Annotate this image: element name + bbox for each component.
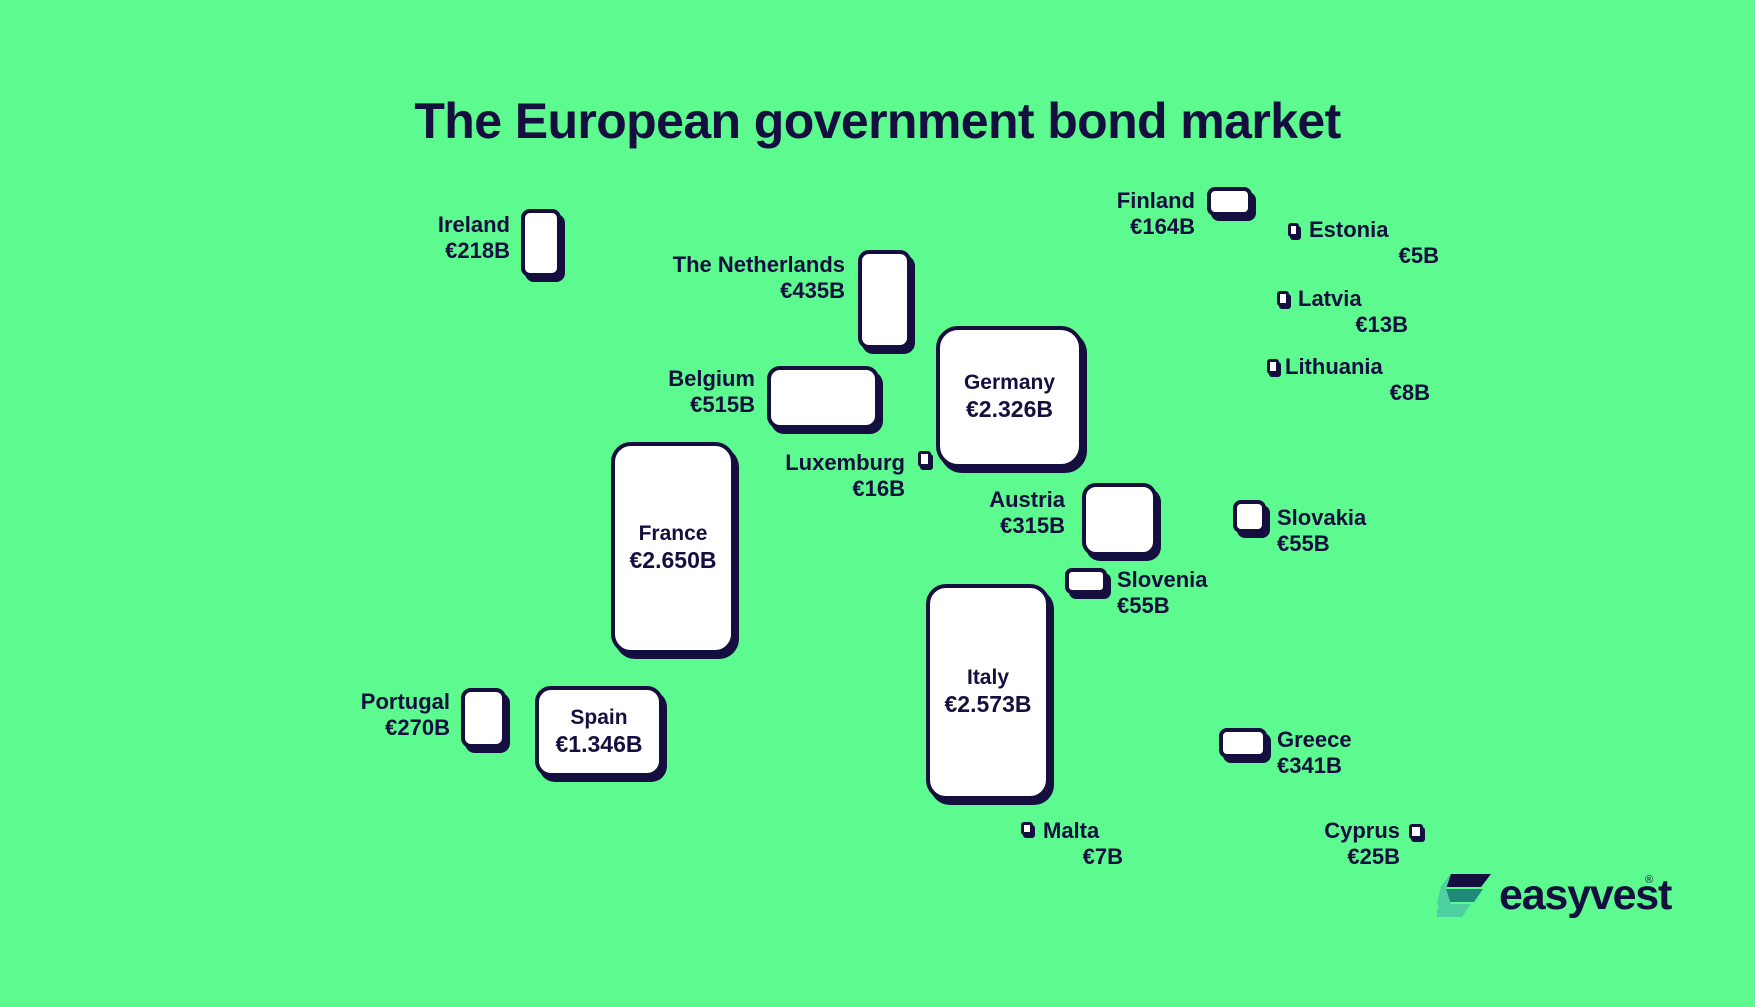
country-value-austria: €315B: [900, 513, 1065, 539]
label-netherlands: The Netherlands €435B: [600, 252, 845, 303]
country-value-italy: €2.573B: [945, 690, 1032, 719]
country-value-estonia: €5B: [1309, 243, 1439, 269]
easyvest-logo[interactable]: easyvest ®: [1437, 872, 1667, 924]
country-name-estonia: Estonia: [1309, 217, 1509, 243]
country-name-latvia: Latvia: [1298, 286, 1498, 312]
country-name-slovakia: Slovakia: [1277, 505, 1477, 531]
box-lithuania[interactable]: [1267, 359, 1279, 374]
label-portugal: Portugal €270B: [285, 689, 450, 740]
label-slovakia: Slovakia €55B: [1277, 505, 1477, 556]
country-name-portugal: Portugal: [285, 689, 450, 715]
country-value-slovakia: €55B: [1277, 531, 1477, 557]
country-value-ireland: €218B: [330, 238, 510, 264]
country-name-spain: Spain: [570, 705, 627, 730]
box-belgium[interactable]: [767, 366, 879, 429]
label-austria: Austria €315B: [900, 487, 1065, 538]
country-value-spain: €1.346B: [556, 730, 643, 759]
box-estonia[interactable]: [1288, 223, 1299, 237]
label-ireland: Ireland €218B: [330, 212, 510, 263]
registered-trademark-icon: ®: [1645, 874, 1653, 886]
country-value-latvia: €13B: [1298, 312, 1408, 338]
country-value-cyprus: €25B: [1245, 844, 1400, 870]
label-malta: Malta €7B: [1043, 818, 1243, 869]
label-estonia: Estonia €5B: [1309, 217, 1509, 268]
country-name-germany: Germany: [964, 370, 1055, 395]
country-value-malta: €7B: [1043, 844, 1123, 870]
country-name-cyprus: Cyprus: [1245, 818, 1400, 844]
country-name-lithuania: Lithuania: [1285, 354, 1485, 380]
country-value-greece: €341B: [1277, 753, 1477, 779]
box-france[interactable]: France €2.650B: [611, 442, 735, 654]
label-slovenia: Slovenia €55B: [1117, 567, 1317, 618]
box-slovenia[interactable]: [1065, 568, 1107, 594]
label-finland: Finland €164B: [1025, 188, 1195, 239]
box-malta[interactable]: [1021, 822, 1033, 835]
label-cyprus: Cyprus €25B: [1245, 818, 1400, 869]
box-slovakia[interactable]: [1233, 500, 1266, 533]
country-name-italy: Italy: [967, 665, 1009, 690]
box-netherlands[interactable]: [858, 250, 911, 349]
box-italy[interactable]: Italy €2.573B: [926, 584, 1050, 800]
box-austria[interactable]: [1082, 483, 1157, 556]
country-name-greece: Greece: [1277, 727, 1477, 753]
label-belgium: Belgium €515B: [590, 366, 755, 417]
country-name-malta: Malta: [1043, 818, 1243, 844]
country-value-lithuania: €8B: [1285, 380, 1430, 406]
box-greece[interactable]: [1219, 728, 1267, 758]
country-name-france: France: [639, 521, 708, 546]
box-ireland[interactable]: [521, 209, 561, 277]
box-finland[interactable]: [1207, 187, 1252, 216]
country-name-austria: Austria: [900, 487, 1065, 513]
label-latvia: Latvia €13B: [1298, 286, 1498, 337]
country-value-france: €2.650B: [630, 546, 717, 575]
country-name-belgium: Belgium: [590, 366, 755, 392]
country-name-ireland: Ireland: [330, 212, 510, 238]
box-germany[interactable]: Germany €2.326B: [936, 326, 1083, 468]
easyvest-logo-mark: [1437, 874, 1491, 918]
country-name-slovenia: Slovenia: [1117, 567, 1317, 593]
box-spain[interactable]: Spain €1.346B: [535, 686, 663, 777]
box-portugal[interactable]: [461, 688, 506, 748]
country-value-finland: €164B: [1025, 214, 1195, 240]
box-luxemburg[interactable]: [918, 451, 931, 467]
infographic-canvas: The European government bond market Irel…: [0, 0, 1755, 1007]
country-value-netherlands: €435B: [600, 278, 845, 304]
country-value-slovenia: €55B: [1117, 593, 1317, 619]
label-lithuania: Lithuania €8B: [1285, 354, 1485, 405]
country-name-netherlands: The Netherlands: [600, 252, 845, 278]
label-greece: Greece €341B: [1277, 727, 1477, 778]
page-title: The European government bond market: [0, 92, 1755, 150]
country-value-belgium: €515B: [590, 392, 755, 418]
box-cyprus[interactable]: [1409, 824, 1423, 839]
country-value-portugal: €270B: [285, 715, 450, 741]
country-name-finland: Finland: [1025, 188, 1195, 214]
box-latvia[interactable]: [1277, 291, 1289, 306]
country-value-germany: €2.326B: [966, 395, 1053, 424]
